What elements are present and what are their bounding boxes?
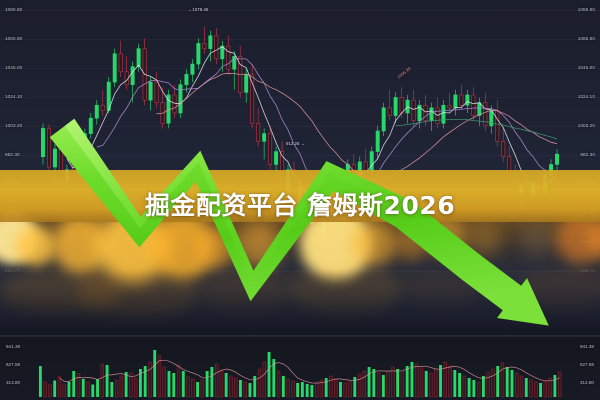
page-title: 掘金配资平台 詹姆斯2026 xyxy=(0,186,600,222)
promo-banner: 1086.801065.901045.001024.101003.20982.3… xyxy=(0,0,600,400)
